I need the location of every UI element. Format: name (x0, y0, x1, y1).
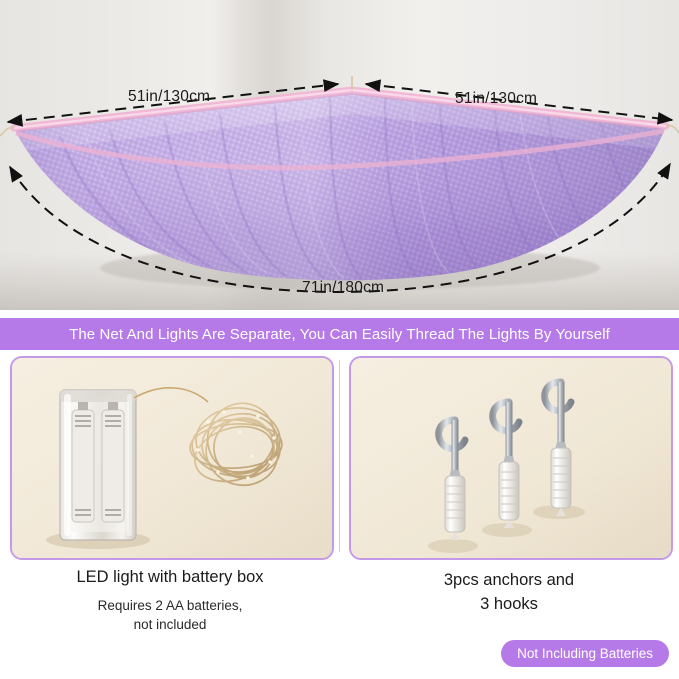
not-including-batteries-badge: Not Including Batteries (501, 640, 669, 667)
accessory-cards: LED light with battery box Requires 2 AA… (0, 356, 679, 679)
dimension-label-top-right: 51in/130cm (455, 90, 537, 108)
card-led-light-subtitle-line2: not included (10, 615, 330, 634)
product-photo-panel: 51in/130cm 51in/130cm 71in/180cm (0, 0, 679, 310)
dimension-label-bottom: 71in/180cm (302, 279, 384, 297)
card-anchors-hooks-title: 3pcs anchors and 3 hooks (349, 568, 669, 616)
card-divider (339, 360, 340, 552)
feature-banner-text: The Net And Lights Are Separate, You Can… (69, 326, 610, 343)
card-led-light-subtitle-line1: Requires 2 AA batteries, (10, 596, 330, 615)
card-anchors-hooks (349, 356, 673, 560)
anchors-hooks-photo (351, 358, 671, 558)
card-led-light (10, 356, 334, 560)
card-anchors-hooks-title-line1: 3pcs anchors and (349, 568, 669, 592)
card-led-light-subtitle: Requires 2 AA batteries, not included (10, 596, 330, 634)
dimension-annotations (0, 0, 679, 310)
card-anchors-hooks-title-line2: 3 hooks (349, 592, 669, 616)
dimension-label-top-left: 51in/130cm (128, 88, 210, 106)
feature-banner: The Net And Lights Are Separate, You Can… (0, 318, 679, 350)
led-light-photo (12, 358, 332, 558)
card-led-light-title: LED light with battery box (10, 568, 330, 587)
